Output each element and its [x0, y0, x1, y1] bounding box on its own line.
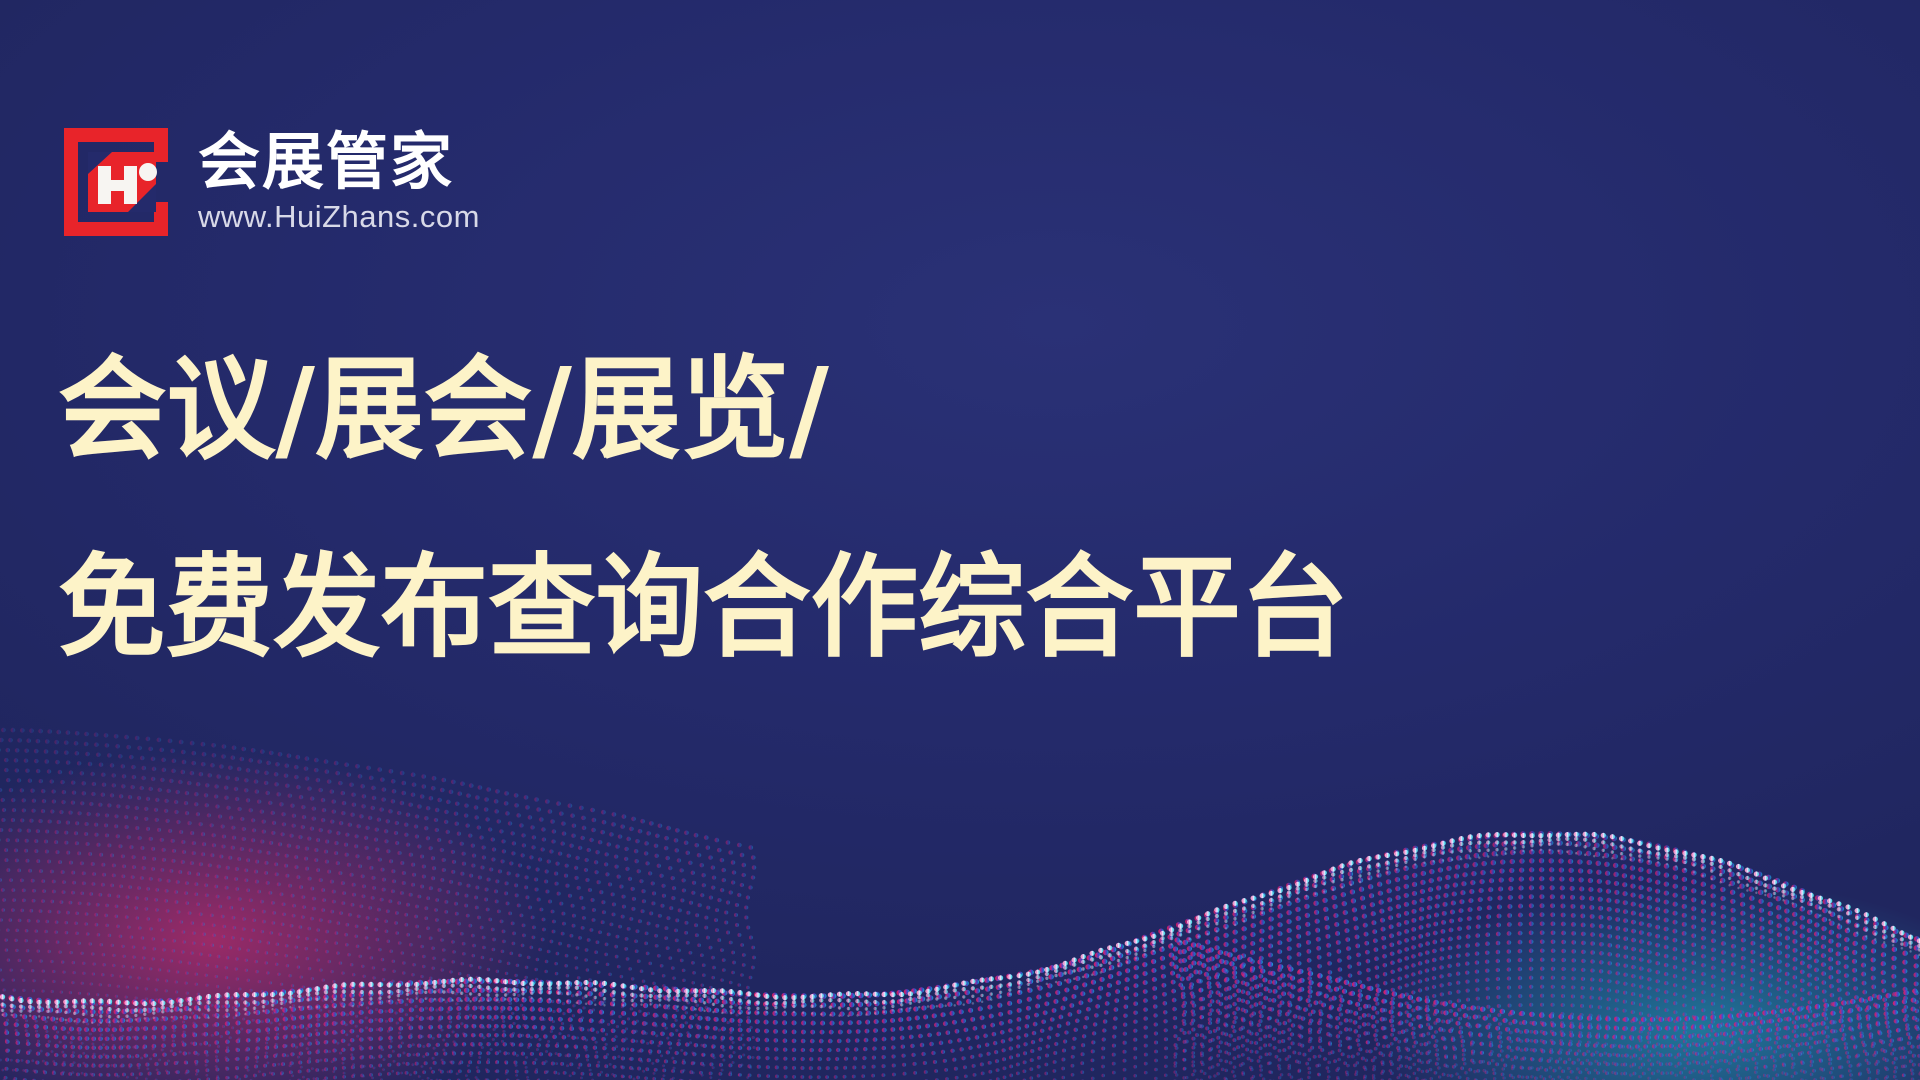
brand-name: 会展管家: [198, 130, 480, 194]
brand-logo[interactable]: 会展管家 www.HuiZhans.com: [64, 128, 480, 244]
brand-website-url: www.HuiZhans.com: [198, 200, 480, 234]
particle-wave-svg: [0, 610, 1920, 1080]
brand-lockup-text: 会展管家 www.HuiZhans.com: [198, 128, 480, 234]
headline-line-2: 免费发布查询合作综合平台: [58, 550, 1421, 666]
particle-wave-decoration: [0, 610, 1920, 1080]
promo-banner: 会展管家 www.HuiZhans.com 会议/展会/展览/ 免费发布查询合作…: [0, 0, 1920, 1080]
headline-line-1: 会议/展会/展览/: [58, 352, 1435, 468]
huizhans-hi-monogram-icon: [64, 128, 168, 236]
headline-block: 会议/展会/展览/ 免费发布查询合作综合平台: [58, 352, 1478, 666]
